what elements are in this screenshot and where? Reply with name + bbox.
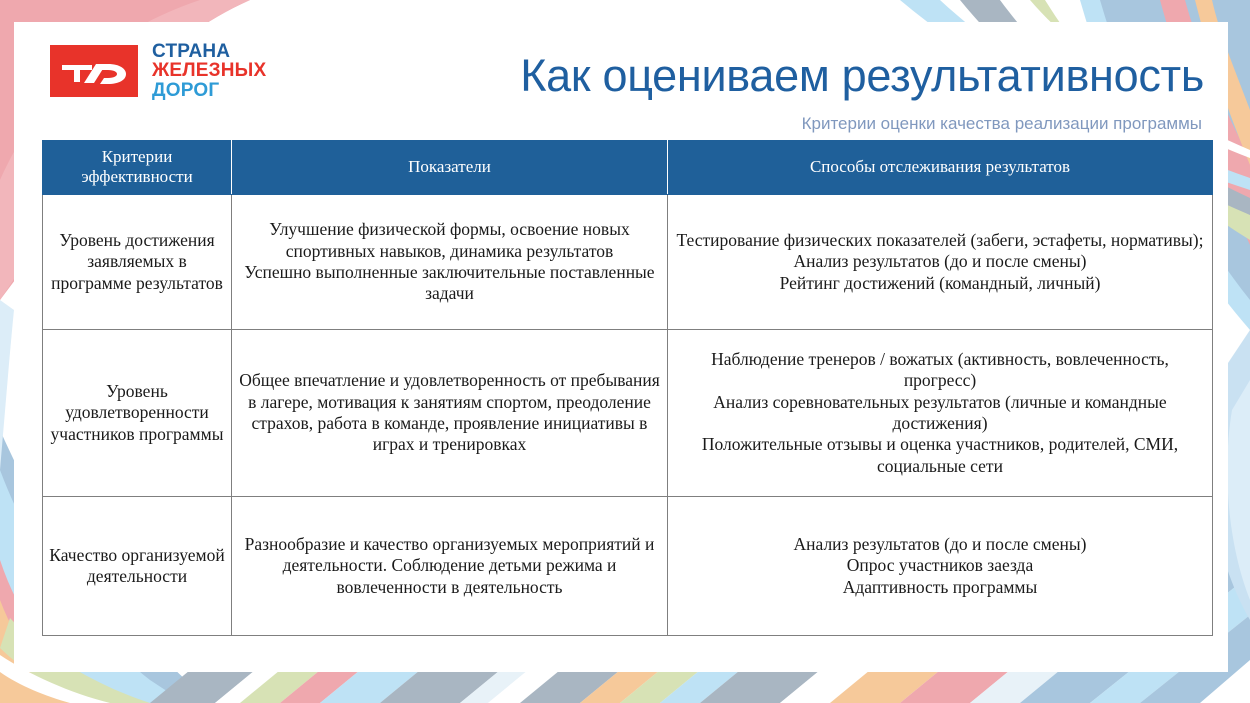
column-header-methods: Способы отслеживания результатов xyxy=(668,141,1213,195)
cell-indicators: Улучшение физической формы, освоение нов… xyxy=(232,195,668,330)
method-line: Анализ результатов (до и после смены) xyxy=(673,251,1207,272)
slide-header: СТРАНА ЖЕЛЕЗНЫХ ДОРОГ Как оцениваем резу… xyxy=(14,22,1228,134)
cell-methods: Анализ результатов (до и после смены) Оп… xyxy=(668,497,1213,636)
method-line: Наблюдение тренеров / вожатых (активност… xyxy=(673,349,1207,392)
method-line: Опрос участников заезда xyxy=(673,555,1207,576)
indicator-line: Успешно выполненные заключительные поста… xyxy=(237,262,662,305)
method-line: Положительные отзывы и оценка участников… xyxy=(673,434,1207,477)
table-body: Уровень достижения заявляемых в программ… xyxy=(43,195,1213,636)
column-header-indicators: Показатели xyxy=(232,141,668,195)
indicator-line: Разнообразие и качество организуемых мер… xyxy=(237,534,662,598)
table-header-row: Критерии эффективности Показатели Способ… xyxy=(43,141,1213,195)
criteria-table: Критерии эффективности Показатели Способ… xyxy=(42,140,1213,636)
brand-line-3: ДОРОГ xyxy=(152,81,266,100)
cell-criterion: Качество организуемой деятельности xyxy=(43,497,232,636)
cell-criterion: Уровень достижения заявляемых в программ… xyxy=(43,195,232,330)
cell-indicators: Разнообразие и качество организуемых мер… xyxy=(232,497,668,636)
content-card: СТРАНА ЖЕЛЕЗНЫХ ДОРОГ Как оцениваем резу… xyxy=(14,22,1228,672)
method-line: Тестирование физических показателей (заб… xyxy=(673,230,1207,251)
table-row: Уровень достижения заявляемых в программ… xyxy=(43,195,1213,330)
page-title: Как оцениваем результативность xyxy=(520,50,1204,102)
indicator-line: Улучшение физической формы, освоение нов… xyxy=(237,219,662,262)
brand-wordmark: СТРАНА ЖЕЛЕЗНЫХ ДОРОГ xyxy=(152,42,266,100)
table-row: Качество организуемой деятельности Разно… xyxy=(43,497,1213,636)
rzd-logo-icon xyxy=(50,45,138,97)
table-row: Уровень удовлетворенности участников про… xyxy=(43,330,1213,497)
criteria-table-wrapper: Критерии эффективности Показатели Способ… xyxy=(42,140,1212,636)
cell-methods: Наблюдение тренеров / вожатых (активност… xyxy=(668,330,1213,497)
slide: СТРАНА ЖЕЛЕЗНЫХ ДОРОГ Как оцениваем резу… xyxy=(0,0,1250,703)
cell-criterion: Уровень удовлетворенности участников про… xyxy=(43,330,232,497)
method-line: Анализ результатов (до и после смены) xyxy=(673,534,1207,555)
table-head: Критерии эффективности Показатели Способ… xyxy=(43,141,1213,195)
cell-methods: Тестирование физических показателей (заб… xyxy=(668,195,1213,330)
cell-indicators: Общее впечатление и удовлетворенность от… xyxy=(232,330,668,497)
column-header-criteria: Критерии эффективности xyxy=(43,141,232,195)
method-line: Рейтинг достижений (командный, личный) xyxy=(673,273,1207,294)
indicator-line: Общее впечатление и удовлетворенность от… xyxy=(237,370,662,455)
method-line: Анализ соревновательных результатов (лич… xyxy=(673,392,1207,435)
brand-line-1: СТРАНА xyxy=(152,42,266,61)
page-subtitle: Критерии оценки качества реализации прог… xyxy=(802,114,1202,134)
method-line: Адаптивность программы xyxy=(673,577,1207,598)
brand-line-2: ЖЕЛЕЗНЫХ xyxy=(152,61,266,80)
brand-logo: СТРАНА ЖЕЛЕЗНЫХ ДОРОГ xyxy=(50,42,266,100)
